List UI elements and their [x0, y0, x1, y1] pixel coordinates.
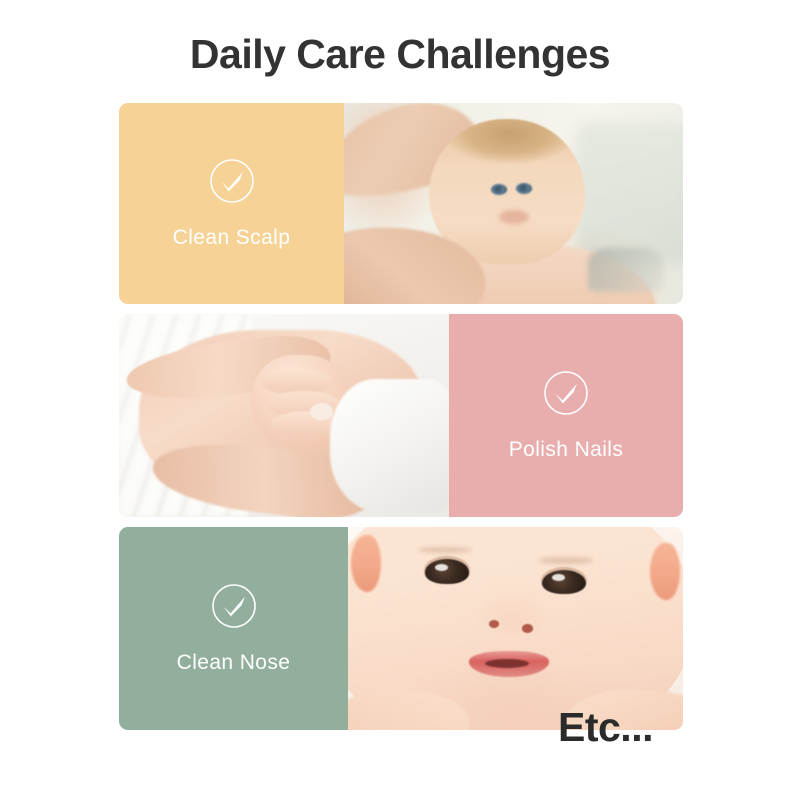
photo-baby-mouth-open — [485, 659, 529, 668]
feature-label-polish-nails: Polish Nails — [509, 438, 624, 462]
product-feature-card: Daily Care Challenges Clean Scalp — [0, 0, 800, 800]
page-title: Daily Care Challenges — [0, 30, 800, 79]
photo-baby-nostril-right — [522, 624, 533, 632]
check-circle-icon — [543, 370, 589, 416]
photo-baby-eye-left — [491, 184, 507, 195]
label-pane-polish-nails: Polish Nails — [449, 314, 683, 517]
photo-background-blur — [575, 123, 683, 264]
feature-card-clean-scalp[interactable]: Clean Scalp — [119, 103, 683, 304]
photo-baby-sleeve — [330, 379, 449, 513]
label-pane-clean-nose: Clean Nose — [119, 527, 348, 730]
photo-baby-nail — [310, 403, 333, 419]
feature-photo-clean-scalp — [344, 103, 683, 304]
label-pane-clean-scalp: Clean Scalp — [119, 103, 344, 304]
feature-label-clean-scalp: Clean Scalp — [173, 226, 291, 250]
feature-photo-clean-nose — [348, 527, 683, 730]
photo-baby-eye-right — [516, 183, 532, 194]
photo-baby-ear-right — [650, 543, 680, 600]
feature-photo-polish-nails — [119, 314, 449, 517]
photo-baby-brow-right — [539, 557, 593, 563]
photo-baby-ear-left — [351, 535, 381, 592]
check-circle-icon — [209, 158, 255, 204]
photo-baby-eye-left — [425, 559, 469, 583]
photo-baby-mouth — [499, 210, 529, 224]
feature-card-clean-nose[interactable]: Clean Nose — [119, 527, 683, 730]
feature-label-clean-nose: Clean Nose — [177, 651, 291, 675]
check-circle-icon — [211, 583, 257, 629]
photo-faucet — [588, 248, 663, 292]
etc-label: Etc... — [558, 707, 653, 748]
photo-baby-nose — [475, 588, 549, 633]
feature-card-polish-nails[interactable]: Polish Nails — [119, 314, 683, 517]
photo-baby-eye-right — [542, 570, 586, 594]
